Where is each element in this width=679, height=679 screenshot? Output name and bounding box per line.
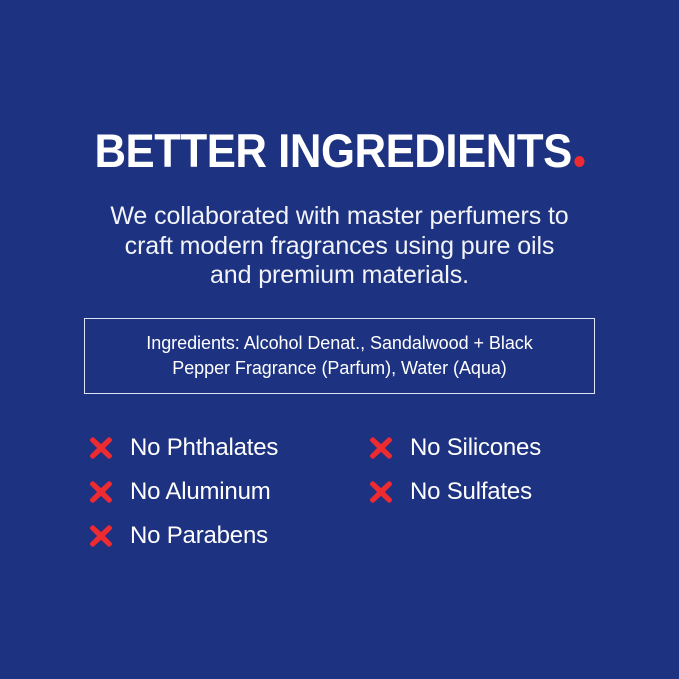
claim-label: No Aluminum [130,479,271,505]
headline-accent-dot [574,156,584,167]
red-x-icon [88,479,114,505]
product-ingredients-infographic: BETTER INGREDIENTS We collaborated with … [0,0,679,679]
claim-label: No Phthalates [130,435,278,461]
red-x-icon [368,435,394,461]
claim-label: No Sulfates [410,479,532,505]
free-from-claims-list: No Phthalates No Aluminum No Parabens [88,426,608,558]
claims-column-right: No Silicones No Sulfates [368,426,608,514]
claim-item-no-parabens: No Parabens [88,514,368,558]
intro-paragraph-line-2: craft modern fragrances using pure oils [0,232,679,262]
claim-item-no-sulfates: No Sulfates [368,470,608,514]
claims-column-left: No Phthalates No Aluminum No Parabens [88,426,368,558]
intro-paragraph-line-1: We collaborated with master perfumers to [0,202,679,232]
claim-item-no-phthalates: No Phthalates [88,426,368,470]
claim-label: No Silicones [410,435,541,461]
ingredients-box: Ingredients: Alcohol Denat., Sandalwood … [84,318,595,394]
ingredients-text: Ingredients: Alcohol Denat., Sandalwood … [132,331,546,381]
claim-item-no-silicones: No Silicones [368,426,608,470]
intro-paragraph: We collaborated with master perfumers to… [0,202,679,291]
claim-item-no-aluminum: No Aluminum [88,470,368,514]
claim-label: No Parabens [130,523,268,549]
red-x-icon [88,435,114,461]
page-title-text: BETTER INGREDIENTS [94,124,571,177]
ingredients-line-1: Ingredients: Alcohol Denat., Sandalwood … [146,331,532,356]
ingredients-line-2: Pepper Fragrance (Parfum), Water (Aqua) [146,356,532,381]
headline-container: BETTER INGREDIENTS [0,126,679,176]
red-x-icon [368,479,394,505]
red-x-icon [88,523,114,549]
intro-paragraph-line-3: and premium materials. [0,261,679,291]
page-title: BETTER INGREDIENTS [94,126,584,176]
